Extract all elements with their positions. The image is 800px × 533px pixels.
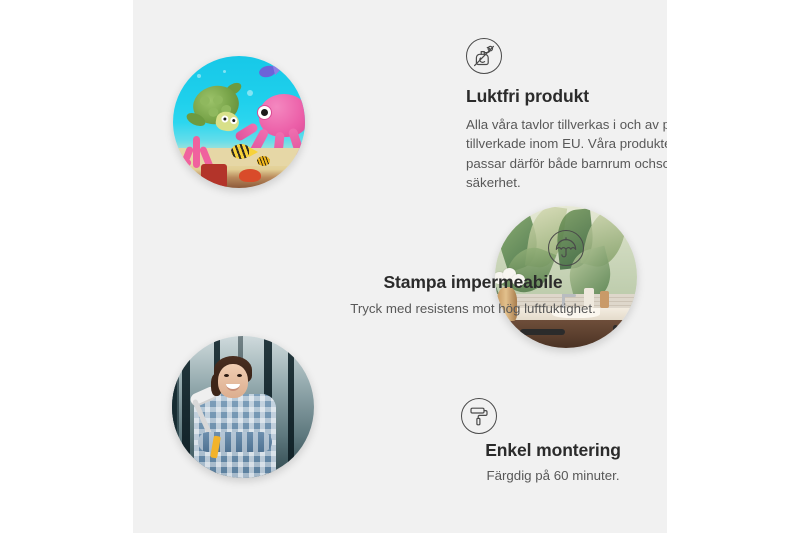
feature-easy-mounting: Enkel montering Färgdig på 60 minuter. xyxy=(433,398,667,485)
paint-roller-icon xyxy=(461,398,497,434)
screenshot-root: Luktfri produkt Alla våra tavlor tillver… xyxy=(0,0,800,533)
feature-water-title: Stampa impermeabile xyxy=(338,272,608,294)
feature-waterproof-print: Stampa impermeabile Tryck med resistens … xyxy=(338,230,608,318)
content-panel: Luktfri produkt Alla våra tavlor tillver… xyxy=(133,0,667,533)
umbrella-icon xyxy=(548,230,584,266)
feature-odour-title: Luktfri produkt xyxy=(466,86,667,108)
feature-water-body: Tryck med resistens mot hög luftfuktighe… xyxy=(338,299,608,319)
feature-mount-body: Färgdig på 60 minuter. xyxy=(433,466,667,486)
feature-mount-title: Enkel montering xyxy=(433,440,667,462)
feature-odour-free: Luktfri produkt Alla våra tavlor tillver… xyxy=(466,38,667,193)
underwater-sea-life-photo xyxy=(173,56,305,188)
feature-water-icon-wrap xyxy=(338,230,608,266)
feature-odour-body: Alla våra tavlor tillverkas i och av pro… xyxy=(466,115,667,193)
no-fragrance-icon xyxy=(466,38,502,74)
feature-mount-icon-wrap xyxy=(433,398,667,434)
woman-painter-forest-mural-photo xyxy=(172,336,314,478)
feature-odour-icon-wrap xyxy=(466,38,667,74)
